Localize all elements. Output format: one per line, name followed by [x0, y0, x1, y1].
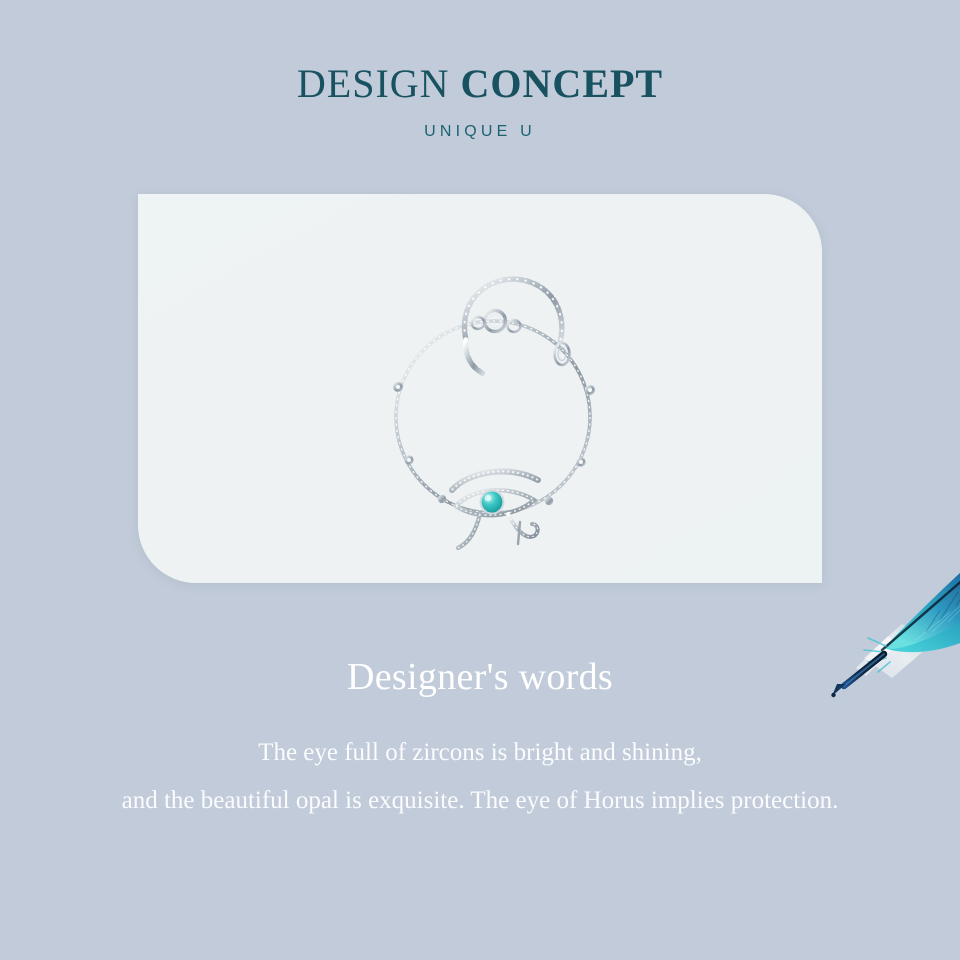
designer-words-body: The eye full of zircons is bright and sh…	[0, 699, 960, 824]
product-showcase-card: Grace	[138, 194, 822, 583]
page-title-bold: CONCEPT	[461, 61, 664, 106]
designer-words-section: Designer's words The eye full of zircons…	[0, 655, 960, 824]
designer-words-line-1: The eye full of zircons is bright and sh…	[0, 729, 960, 777]
page-title-light: DESIGN	[297, 61, 450, 106]
designer-words-line-2: and the beautiful opal is exquisite. The…	[0, 777, 960, 825]
page-subtitle: UNIQUE U	[0, 105, 960, 141]
card-inner-clip: Grace	[138, 194, 822, 583]
page-header: DESIGN CONCEPT UNIQUE U	[0, 0, 960, 141]
designer-words-heading: Designer's words	[0, 655, 960, 699]
page-title: DESIGN CONCEPT	[0, 62, 960, 105]
eye-of-horus-bracelet-image	[338, 222, 648, 552]
